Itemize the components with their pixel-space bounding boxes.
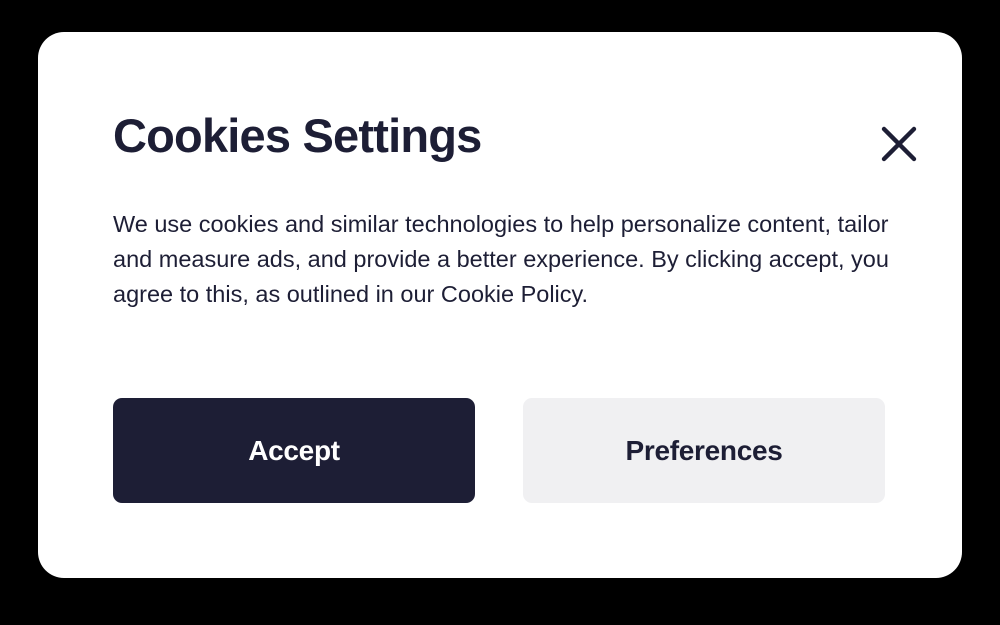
dialog-actions: Accept Preferences (113, 398, 885, 503)
preferences-button[interactable]: Preferences (523, 398, 885, 503)
screen-background: Cookies Settings We use cookies and simi… (0, 0, 1000, 625)
close-button[interactable] (875, 120, 923, 168)
close-icon (881, 126, 917, 162)
page-title: Cookies Settings (113, 105, 482, 167)
cookies-settings-dialog: Cookies Settings We use cookies and simi… (38, 32, 962, 578)
dialog-description: We use cookies and similar technologies … (113, 207, 903, 312)
dialog-header: Cookies Settings (113, 105, 923, 185)
dialog-body: We use cookies and similar technologies … (113, 207, 903, 312)
accept-button[interactable]: Accept (113, 398, 475, 503)
